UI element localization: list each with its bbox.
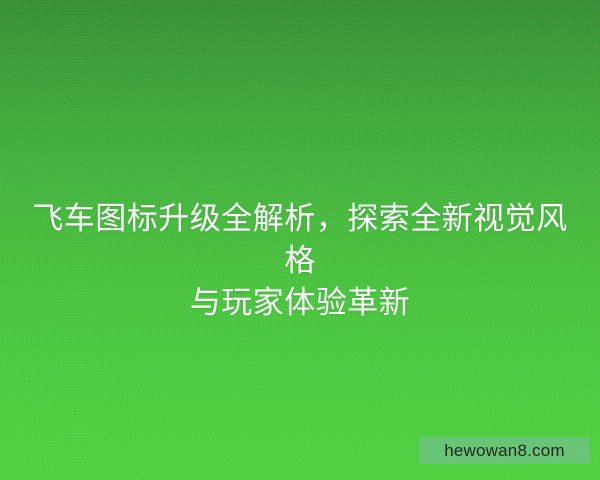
watermark-label: hewowan8.com bbox=[444, 441, 565, 461]
watermark-badge: hewowan8.com bbox=[419, 437, 590, 464]
headline-title: 飞车图标升级全解析，探索全新视觉风格 与玩家体验革新 bbox=[0, 198, 600, 324]
banner-canvas: 飞车图标升级全解析，探索全新视觉风格 与玩家体验革新 hewowan8.com bbox=[0, 0, 600, 480]
